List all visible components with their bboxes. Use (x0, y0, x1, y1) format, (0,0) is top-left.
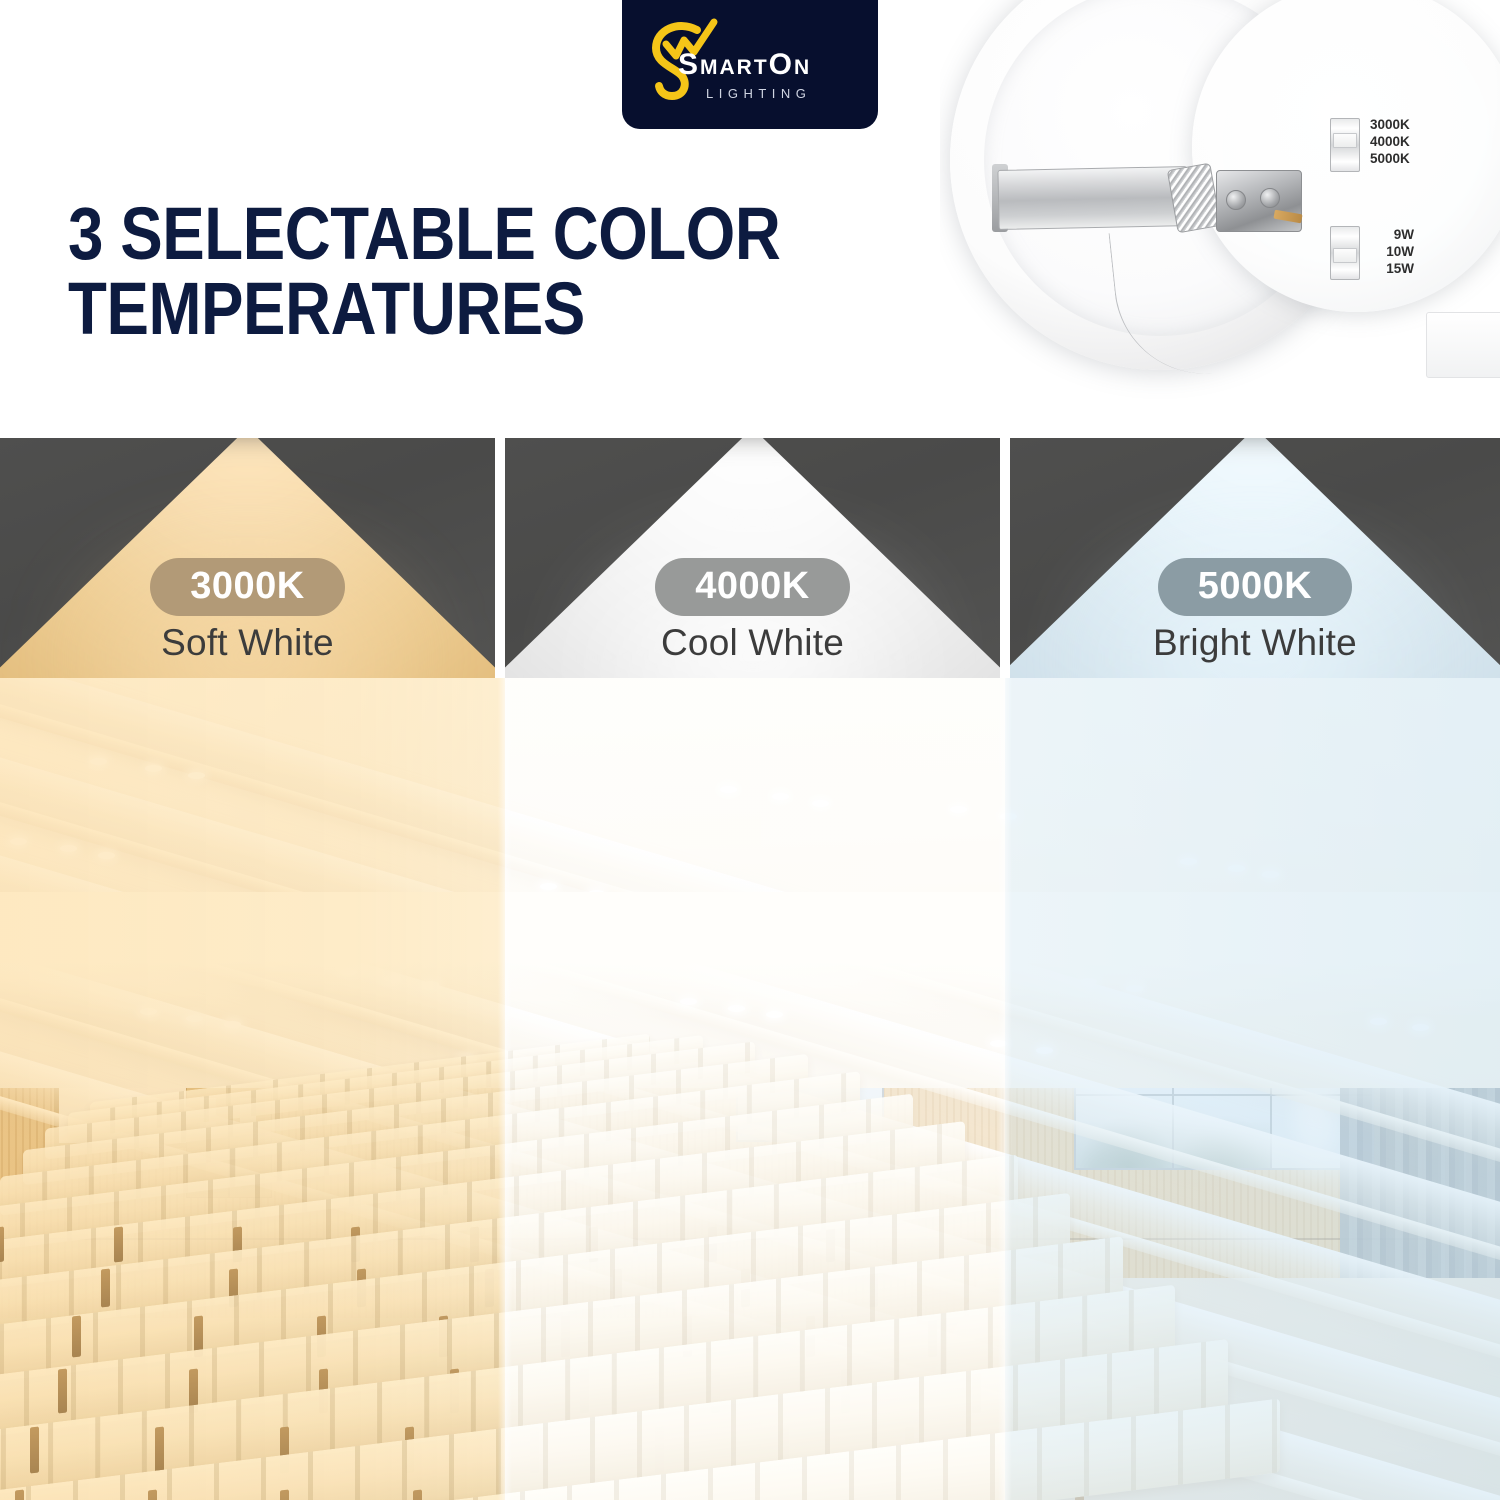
seat-leg (114, 1226, 123, 1262)
ceiling-downlight-icon (950, 806, 967, 813)
ceiling-downlight-icon (188, 772, 205, 779)
cct-comparison-band: 3000K Soft White 4000K Cool White 5000K … (0, 438, 1500, 678)
ceiling-downlight-icon (60, 845, 77, 852)
cct-panel-3000k[interactable]: 3000K Soft White (0, 438, 495, 678)
seat-leg (101, 1268, 110, 1307)
cct-badge-3000k: 3000K (150, 558, 344, 616)
cct-dip-switch[interactable] (1330, 118, 1360, 172)
ceiling-downlight-icon (98, 852, 115, 859)
cct-panel-4000k[interactable]: 4000K Cool White (505, 438, 1000, 678)
ceiling-downlight-icon (720, 786, 737, 793)
cct-switch-labels: 3000K 4000K 5000K (1370, 116, 1410, 167)
seating-rows (0, 1008, 1500, 1500)
ceiling-downlight-icon (540, 883, 557, 890)
cct-label-group: 4000K Cool White (505, 558, 1000, 664)
seat-leg (148, 1489, 157, 1500)
cct-name-5000k: Bright White (1010, 622, 1500, 664)
wattage-switch-labels: 9W 10W 15W (1370, 226, 1414, 277)
hinge-screw-icon (1226, 190, 1246, 210)
seat-leg (155, 1426, 164, 1473)
wattage-dip-switch[interactable] (1330, 226, 1360, 280)
spring-clip-arm (997, 166, 1188, 230)
seat-leg (30, 1426, 39, 1473)
header-section: SMARTON LIGHTING 3 SELECTABLE COLOR TEMP… (0, 0, 1500, 438)
cct-option-3000k: 3000K (1370, 116, 1410, 133)
wattage-option-15w: 15W (1370, 260, 1414, 277)
logo-tagline: LIGHTING (706, 86, 811, 101)
cct-option-4000k: 4000K (1370, 133, 1410, 150)
seat-leg (72, 1316, 81, 1358)
cct-name-3000k: Soft White (0, 622, 495, 664)
headline-line-2: TEMPERATURES (68, 271, 842, 346)
cct-badge-5000k: 5000K (1158, 558, 1352, 616)
wattage-dip-toggle[interactable] (1333, 248, 1357, 264)
ceiling-downlight-icon (145, 765, 162, 772)
cct-badge-4000k: 4000K (655, 558, 849, 616)
cct-panel-5000k[interactable]: 5000K Bright White (1010, 438, 1500, 678)
cct-option-5000k: 5000K (1370, 150, 1410, 167)
cct-name-4000k: Cool White (505, 622, 1000, 664)
ceiling-downlight-icon (1262, 871, 1279, 878)
logo-wordmark: SMARTON (678, 50, 878, 80)
cct-label-group: 3000K Soft White (0, 558, 495, 664)
ceiling-downlight-icon (10, 838, 27, 845)
ceiling-downlight-icon (772, 793, 789, 800)
seat-leg (280, 1489, 289, 1500)
wattage-option-10w: 10W (1370, 243, 1414, 260)
hinge-screw-icon (1260, 188, 1280, 208)
ceiling-wave-edge (0, 892, 1500, 1018)
seat-leg (413, 1489, 422, 1500)
ceiling-downlight-icon (812, 800, 829, 807)
ceiling-downlight-icon (90, 758, 107, 765)
auditorium-scene (0, 678, 1500, 1500)
wattage-option-9w: 9W (1370, 226, 1414, 243)
page-title: 3 SELECTABLE COLOR TEMPERATURES (68, 196, 842, 347)
junction-box-tab (1426, 312, 1500, 378)
ceiling-downlight-icon (1228, 865, 1245, 872)
ceiling-downlight-icon (1180, 858, 1197, 865)
seat-leg (58, 1368, 67, 1413)
seat-leg (15, 1489, 24, 1500)
cct-label-group: 5000K Bright White (1010, 558, 1500, 664)
headline-line-1: 3 SELECTABLE COLOR (68, 196, 842, 271)
seat-leg (0, 1226, 4, 1262)
product-photo-downlight: 3000K 4000K 5000K 9W 10W 15W (940, 0, 1500, 438)
cct-dip-toggle[interactable] (1333, 133, 1357, 149)
ceiling-downlight-icon (1000, 813, 1017, 820)
logo-inner: SMARTON LIGHTING (622, 0, 878, 129)
brand-logo-badge: SMARTON LIGHTING (622, 0, 878, 129)
auditorium-artwork (0, 678, 1500, 1500)
